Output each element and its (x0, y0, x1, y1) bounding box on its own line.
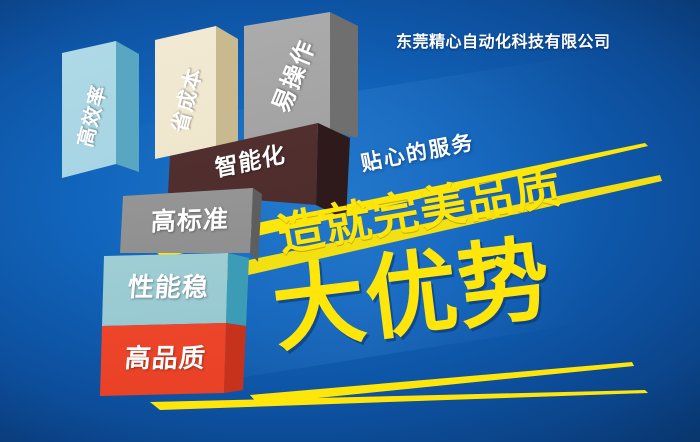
block-yicaozuo-label: 易操作 (261, 34, 322, 117)
block-gaoxiaolv-label: 高效率 (68, 81, 111, 149)
block-xingnengwen-label: 性能稳 (127, 267, 211, 304)
promo-banner: 高效率 省成本 易操作 智能化 高标准 (0, 0, 700, 442)
block-gaobiaozhun-label: 高标准 (150, 200, 230, 239)
block-gaopinzhi-label: 高品质 (124, 338, 208, 375)
block-zhinenghua-label: 智能化 (213, 135, 287, 184)
block-shengchengben-label: 省成本 (163, 64, 208, 135)
company-name: 东莞精心自动化科技有限公司 (396, 28, 611, 52)
